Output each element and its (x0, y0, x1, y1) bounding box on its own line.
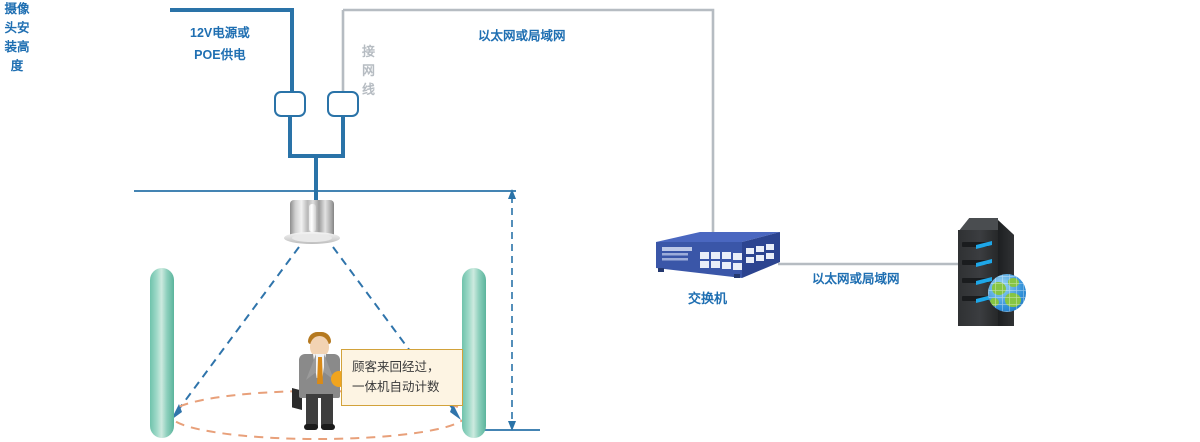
callout-line2: 一体机自动计数 (352, 377, 454, 397)
power-label-line2: POE供电 (190, 44, 250, 66)
door-pillar-left (150, 268, 174, 438)
cable-layer (0, 0, 1200, 442)
server-tower (958, 218, 1020, 326)
ethernet-lan-label-top: 以太网或局域网 (478, 25, 566, 44)
ceiling-dome-camera (284, 200, 340, 246)
callout-box: 顾客来回经过， 一体机自动计数 (341, 349, 463, 406)
person-leg-split (318, 398, 321, 428)
network-cable-label: 接网线 (362, 43, 375, 100)
power-connector (274, 91, 306, 117)
network-connector (327, 91, 359, 117)
network-cable-gray (343, 10, 713, 242)
callout-line1: 顾客来回经过， (352, 357, 454, 377)
power-label-line1: 12V电源或 (190, 22, 250, 44)
fov-line-left (176, 247, 299, 413)
camera-mount-rim-inner (292, 234, 332, 242)
power-source-label: 12V电源或 POE供电 (190, 22, 250, 66)
switch-label: 交换机 (688, 288, 727, 307)
ethernet-lan-label-right: 以太网或局域网 (812, 268, 900, 287)
connector-junction (290, 117, 343, 156)
globe-icon (988, 274, 1026, 312)
person-shoe-left (304, 424, 318, 430)
door-pillar-right (462, 268, 486, 438)
person-shoe-right (321, 424, 335, 430)
diagram-canvas: 12V电源或 POE供电 接网线 以太网或局域网 以太网或局域网 摄像头安装高度… (0, 0, 1200, 442)
camera-lens (309, 204, 316, 232)
